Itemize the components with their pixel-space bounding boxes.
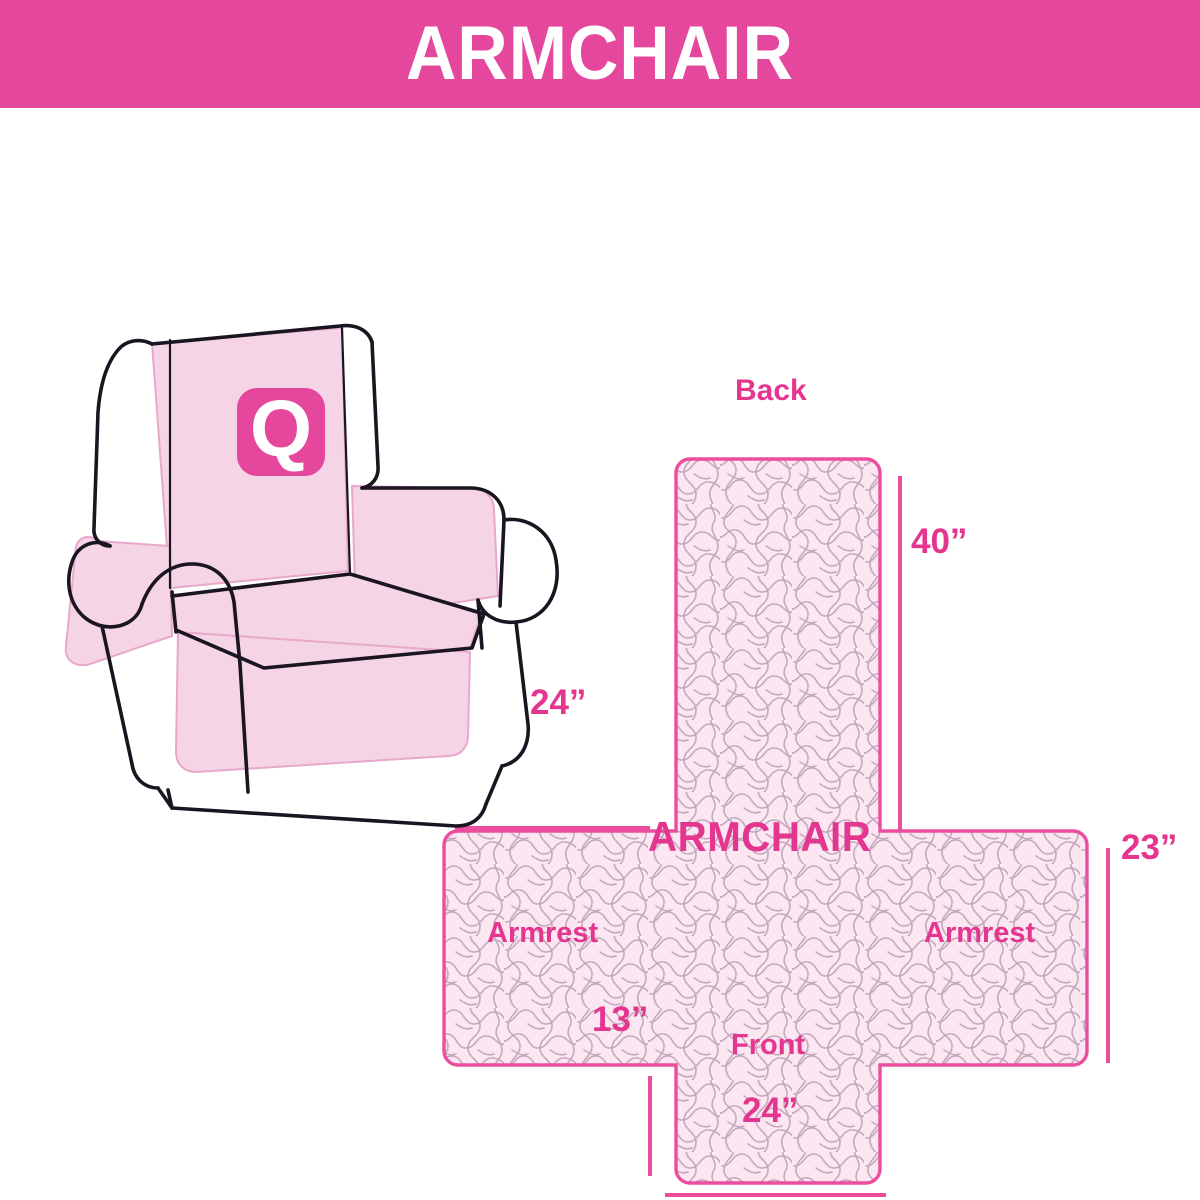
panel-label-armrest-left: Armrest — [487, 919, 598, 948]
header-banner: ARMCHAIR — [0, 0, 1200, 108]
panel-label-back: Back — [735, 376, 807, 406]
page-title: ARMCHAIR — [406, 16, 794, 92]
dimension-label-front-height: 13” — [592, 1002, 648, 1037]
dimension-label-back-width: 24” — [530, 685, 586, 720]
dimension-label-back-height: 40” — [911, 524, 967, 559]
dimension-label-front-width: 24” — [742, 1093, 798, 1128]
panel-label-armrest-right: Armrest — [924, 919, 1035, 948]
diagram-center-title: ARMCHAIR — [648, 816, 871, 858]
armchair-illustration: Q — [66, 326, 557, 826]
panel-label-front: Front — [731, 1031, 805, 1060]
logo-letter: Q — [250, 384, 312, 473]
brand-logo: Q — [237, 384, 325, 476]
page-root: ARMCHAIR — [0, 0, 1200, 1200]
dimension-label-seat-depth: 23” — [1121, 830, 1177, 865]
